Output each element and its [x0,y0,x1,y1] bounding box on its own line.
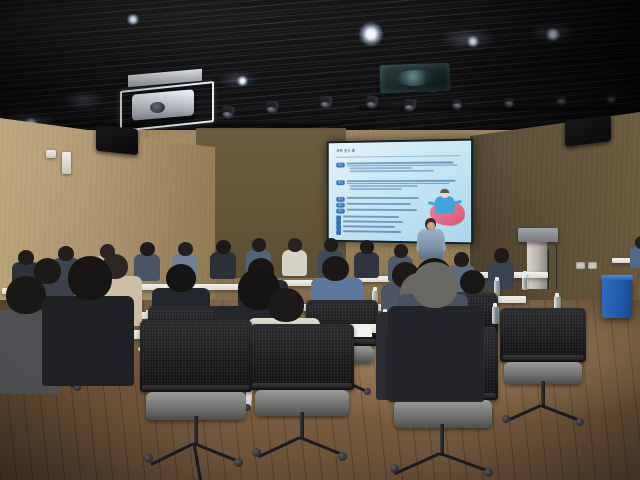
slide-bullet-tag: 항목 [336,209,344,214]
presenter-face [427,222,435,230]
attendee-head [394,244,408,258]
presenter [418,218,444,264]
attendee-head [252,238,266,252]
wall-speaker-icon [96,125,138,155]
lectern-column [527,241,547,289]
slide-bullet: 항목 [336,209,416,215]
attendee-head [58,246,74,261]
attendee-body [630,246,640,268]
attendee-head [178,242,193,256]
attendee-head [494,248,509,263]
cable [548,250,567,290]
attendee-body [354,252,379,278]
chair-leg [258,436,301,458]
attendee-head [140,242,155,256]
illustration-torso [435,196,454,213]
attendee-head [460,270,485,294]
chair-caster [144,454,153,463]
chair [140,320,252,470]
chair-caster [484,468,493,477]
slide-bullet-marker: · [336,230,341,235]
slide-bullet-tag: 항목 [336,180,344,185]
chair-leg [299,436,343,456]
chair [500,308,586,428]
chair-caster [576,418,584,426]
attendee-body [210,252,236,279]
chair-back [250,324,354,390]
chair-leg [150,442,194,466]
presenter-body [419,229,443,259]
water-bottle [492,306,499,324]
wall-control-device [62,152,71,174]
attendee-head [412,262,458,308]
chair-leg [439,452,487,472]
slide-bullet-tag: 항목 [336,197,344,202]
attendee-body [388,306,484,402]
attendee-head [268,288,304,322]
attendee-head [322,256,349,281]
slide-small-bullet: · [336,230,401,236]
attendee-head [360,240,374,254]
chair-back [140,320,252,392]
slide-title: 제목 표시 줄 [336,147,460,158]
attendee-head [6,276,46,314]
seminar-room-photo: 제목 표시 줄 항목 항목 항목 항목 [0,0,640,480]
chair-leg [540,404,578,421]
attendee-head [216,240,231,254]
bin-lip [601,275,633,280]
slide-bullet-lines [346,209,416,211]
chair-caster [338,452,347,461]
attendee-body [488,261,514,289]
attendee-head [635,236,640,249]
slide-bullet: 항목 [336,203,410,208]
wall-control-device [46,150,56,158]
slide-bullet-tag: 항목 [336,203,344,208]
recycling-bin [602,278,632,318]
chair [250,324,354,464]
chair-caster [502,415,510,423]
water-bottle [522,274,528,290]
slide-bullet: 항목 [336,161,457,172]
slide-bullet-lines [346,161,457,172]
chair-leg [193,442,239,463]
slide: 제목 표시 줄 항목 항목 항목 항목 [329,141,471,243]
chair-caster [364,388,371,395]
slide-bullet-lines [346,197,418,199]
chair-leg [394,452,441,475]
power-outlet-icon [588,262,597,269]
attendee-head [18,250,34,265]
slide-bullet-lines [346,203,410,205]
attendee-head [454,252,469,267]
chair-stem [541,381,545,407]
attendee-head [288,238,302,252]
chair-caster [234,458,243,467]
illustration-hair [440,189,449,193]
attendee-body [42,296,134,386]
slide-bullet-tag: 항목 [336,163,344,168]
chair-caster [390,464,399,473]
chair-caster [252,448,261,457]
projection-screen: 제목 표시 줄 항목 항목 항목 항목 [327,139,473,245]
lectern-top [518,228,558,242]
attendee-body [282,250,307,276]
attendee-head [68,256,112,300]
chair-back [500,308,586,362]
slide-bullet: 항목 [336,197,418,202]
attendee-head [166,264,196,292]
attendee-head [324,238,338,252]
